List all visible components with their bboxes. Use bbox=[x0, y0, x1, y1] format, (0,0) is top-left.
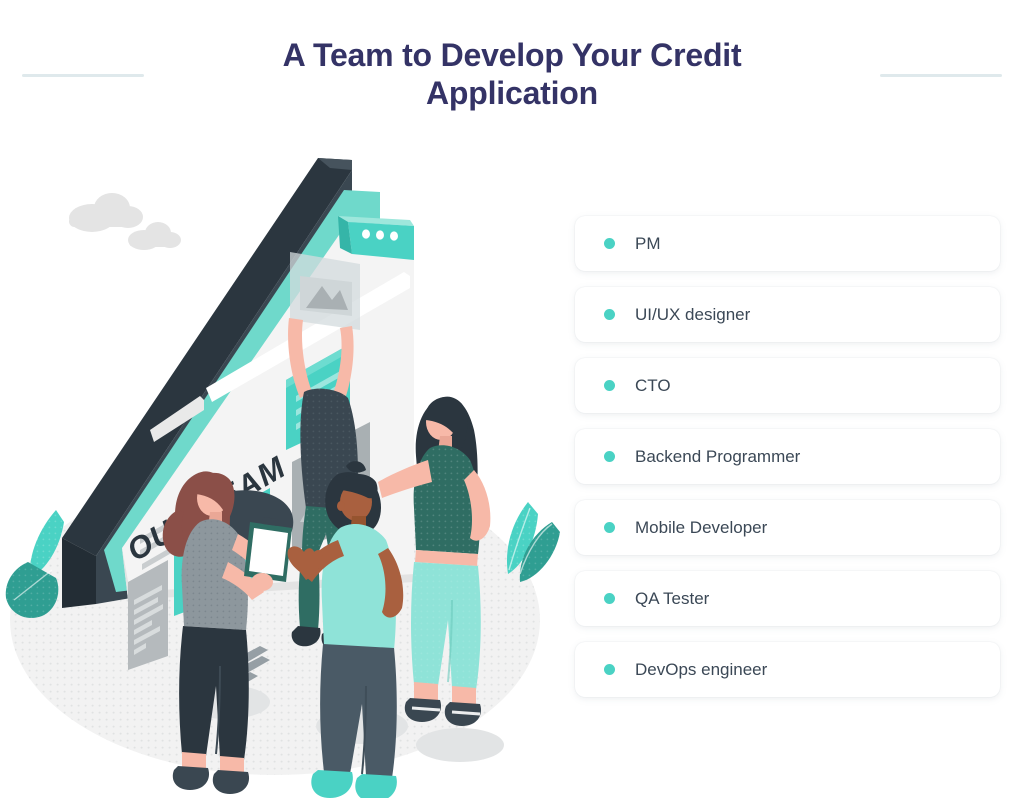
page-header: A Team to Develop Your Credit Applicatio… bbox=[0, 0, 1024, 130]
role-card[interactable]: QA Tester bbox=[575, 571, 1000, 626]
team-illustration: OUR TEAM bbox=[0, 130, 575, 798]
bullet-icon bbox=[604, 664, 615, 675]
decorative-rule-right bbox=[880, 74, 1002, 77]
role-card[interactable]: Mobile Developer bbox=[575, 500, 1000, 555]
role-list: PM UI/UX designer CTO Backend Programmer… bbox=[575, 216, 1000, 713]
role-card[interactable]: UI/UX designer bbox=[575, 287, 1000, 342]
page-title: A Team to Develop Your Credit Applicatio… bbox=[212, 36, 812, 112]
role-label: Backend Programmer bbox=[635, 447, 800, 467]
role-label: DevOps engineer bbox=[635, 660, 767, 680]
bullet-icon bbox=[604, 238, 615, 249]
role-label: Mobile Developer bbox=[635, 518, 767, 538]
bullet-icon bbox=[604, 380, 615, 391]
role-card[interactable]: PM bbox=[575, 216, 1000, 271]
role-label: UI/UX designer bbox=[635, 305, 750, 325]
role-label: CTO bbox=[635, 376, 671, 396]
role-label: PM bbox=[635, 234, 661, 254]
bullet-icon bbox=[604, 451, 615, 462]
decorative-rule-left bbox=[22, 74, 144, 77]
bullet-icon bbox=[604, 522, 615, 533]
role-label: QA Tester bbox=[635, 589, 709, 609]
role-card[interactable]: DevOps engineer bbox=[575, 642, 1000, 697]
role-card[interactable]: Backend Programmer bbox=[575, 429, 1000, 484]
role-card[interactable]: CTO bbox=[575, 358, 1000, 413]
bullet-icon bbox=[604, 593, 615, 604]
bullet-icon bbox=[604, 309, 615, 320]
cloud-icon-large bbox=[69, 193, 143, 232]
